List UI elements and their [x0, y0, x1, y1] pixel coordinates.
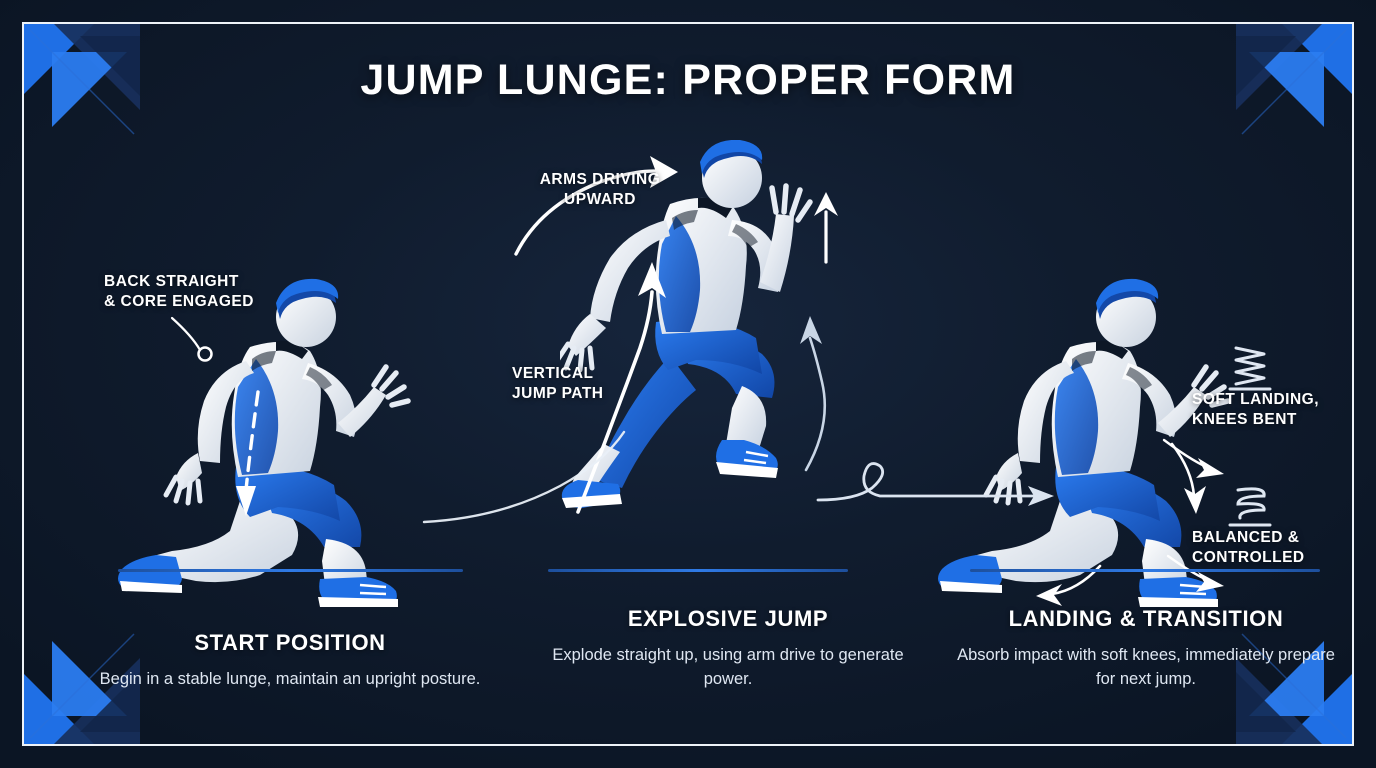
panel-caption-block: EXPLOSIVE JUMP Explode straight up, usin… [518, 606, 938, 692]
infographic-poster: JUMP LUNGE: PROPER FORM [0, 0, 1376, 768]
panel-heading: START POSITION [80, 630, 500, 656]
spring-compressed-icon [1222, 482, 1278, 530]
panel-heading: LANDING & TRANSITION [936, 606, 1356, 632]
panel-explosive-jump: EXPLOSIVE JUMP Explode straight up, usin… [518, 140, 938, 730]
annotation-line-2: JUMP PATH [512, 384, 642, 404]
annotation-line-2: CONTROLLED [1192, 548, 1372, 568]
panel-description: Absorb impact with soft knees, immediate… [936, 644, 1356, 692]
annotation-line-2: UPWARD [520, 190, 680, 210]
annotation-line-1: BACK STRAIGHT [104, 272, 314, 292]
annotation-line-1: BALANCED & [1192, 528, 1372, 548]
panel-caption-block: START POSITION Begin in a stable lunge, … [80, 630, 500, 692]
annotation-vertical-jump-path: VERTICAL JUMP PATH [512, 364, 642, 404]
panel-description: Explode straight up, using arm drive to … [518, 644, 938, 692]
annotation-arms-driving: ARMS DRIVING UPWARD [520, 170, 680, 210]
annotation-back-straight: BACK STRAIGHT & CORE ENGAGED [104, 272, 314, 312]
spring-extended-icon [1222, 344, 1278, 392]
annotation-line-2: KNEES BENT [1192, 410, 1372, 430]
annotation-line-1: VERTICAL [512, 364, 642, 384]
page-title: JUMP LUNGE: PROPER FORM [0, 56, 1376, 105]
annotation-line-2: & CORE ENGAGED [104, 292, 314, 312]
annotation-line-1: ARMS DRIVING [520, 170, 680, 190]
panel-description: Begin in a stable lunge, maintain an upr… [80, 668, 500, 692]
annotation-line-1: SOFT LANDING, [1192, 390, 1372, 410]
annotation-soft-landing: SOFT LANDING, KNEES BENT [1192, 390, 1372, 430]
panel-row: START POSITION Begin in a stable lunge, … [40, 140, 1336, 730]
panel-start-position: START POSITION Begin in a stable lunge, … [80, 140, 500, 730]
panel-heading: EXPLOSIVE JUMP [518, 606, 938, 632]
panel-caption-block: LANDING & TRANSITION Absorb impact with … [936, 606, 1356, 692]
panel-landing-transition: LANDING & TRANSITION Absorb impact with … [936, 140, 1356, 730]
annotation-balanced-controlled: BALANCED & CONTROLLED [1192, 528, 1372, 568]
